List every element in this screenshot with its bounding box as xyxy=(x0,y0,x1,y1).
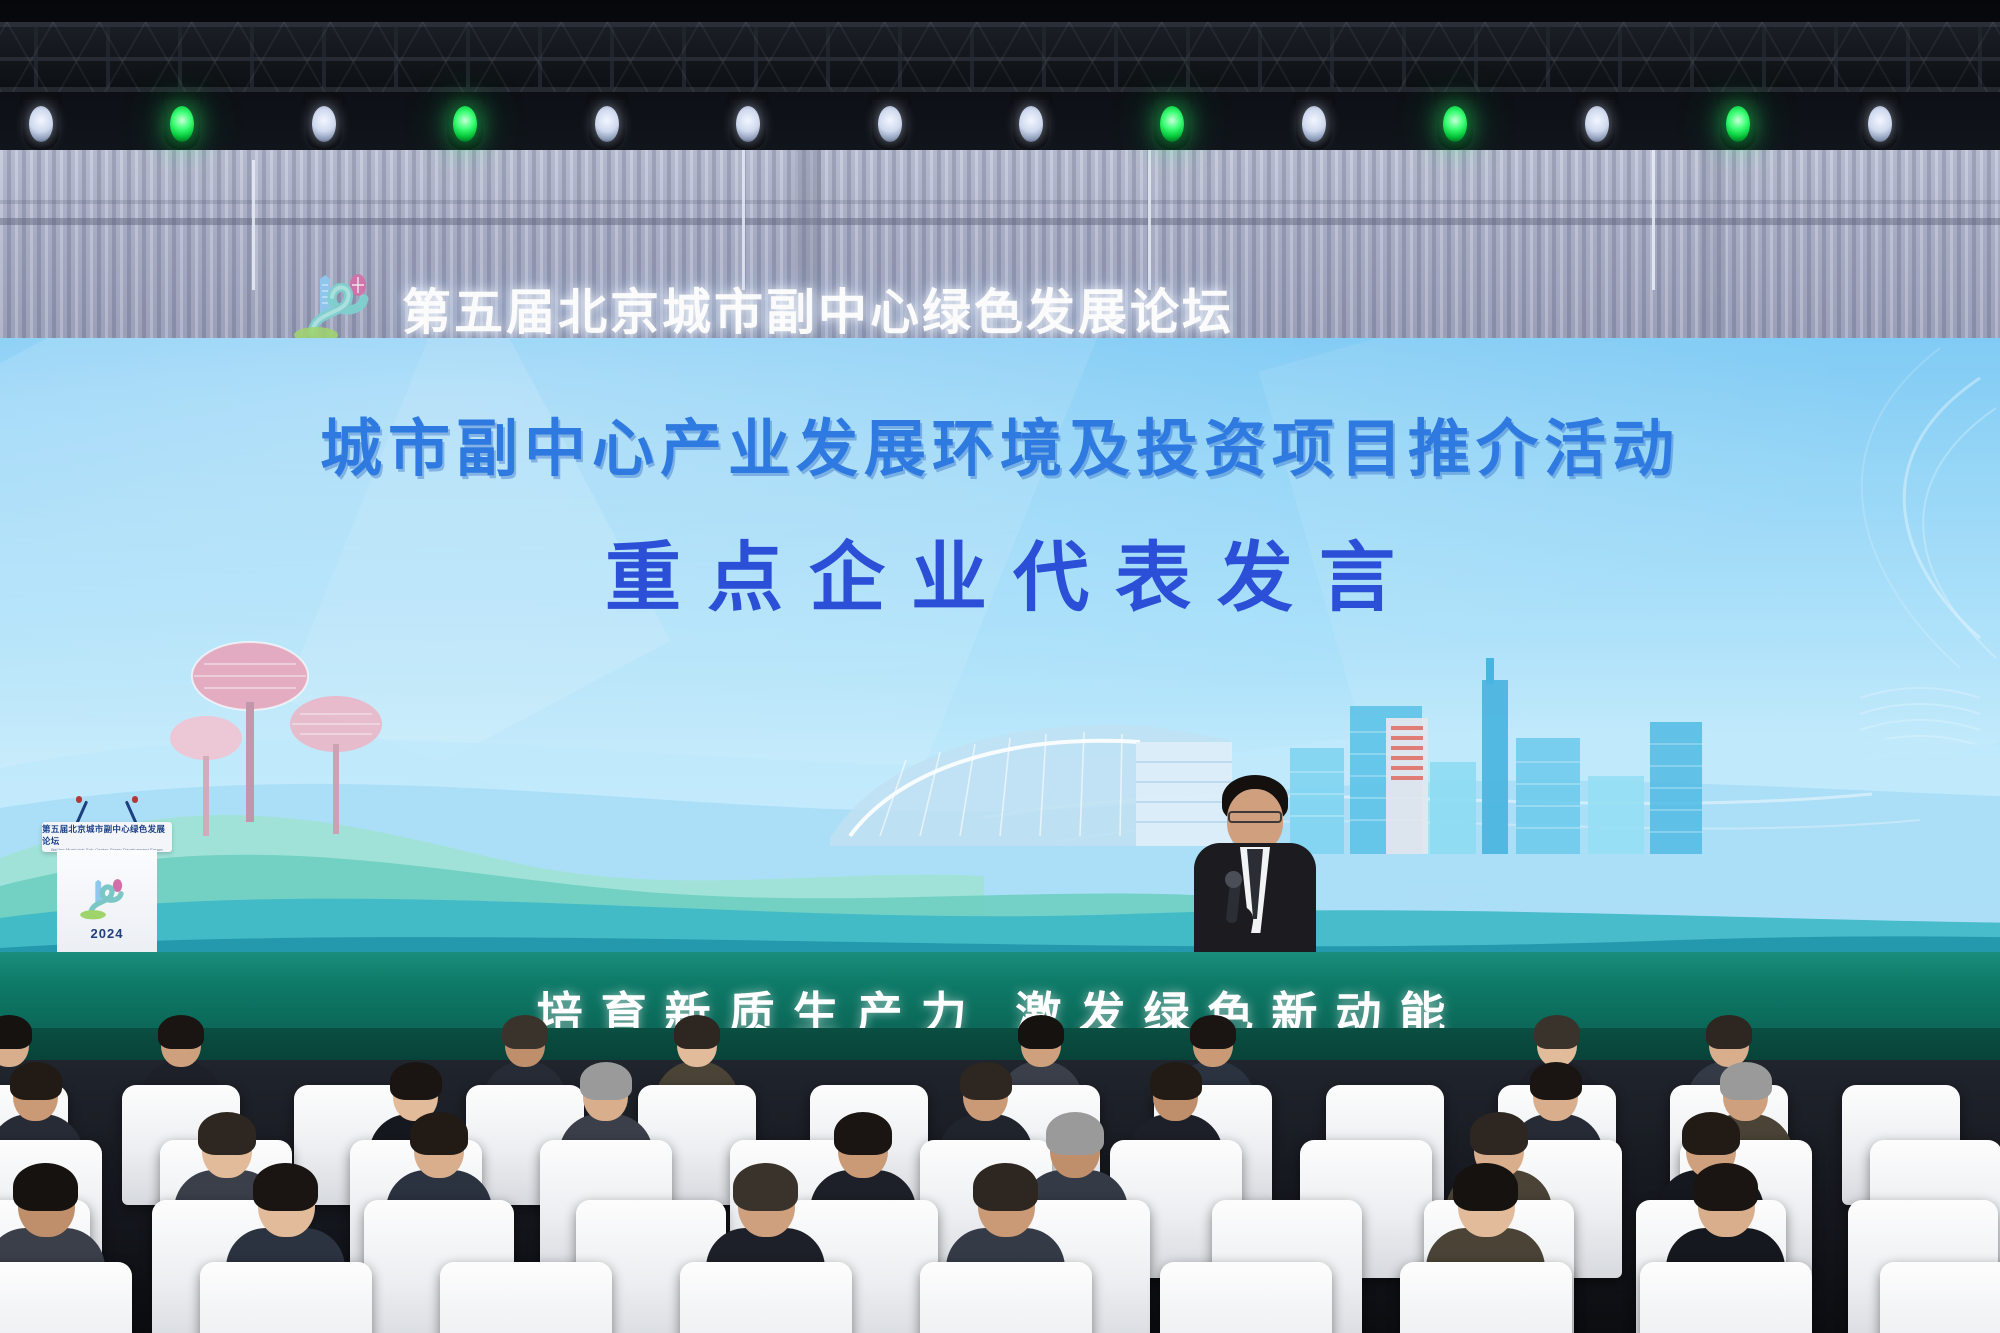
audience-hair xyxy=(253,1163,318,1211)
hanging-rod xyxy=(1148,150,1151,290)
eyeglasses xyxy=(1228,811,1282,823)
stage-light-white xyxy=(1004,92,1058,154)
audience-hair xyxy=(1534,1015,1580,1049)
truss-bracing xyxy=(0,22,2000,92)
forum-logo-podium-icon xyxy=(79,876,135,922)
podium-year: 2024 xyxy=(91,926,124,941)
stage-light-green xyxy=(1145,92,1199,154)
audience-hair xyxy=(1470,1112,1528,1155)
audience-hair xyxy=(502,1015,548,1049)
microphone-head xyxy=(76,796,82,803)
stage-light-green xyxy=(1428,92,1482,154)
audience-hair xyxy=(834,1112,892,1155)
led-screen: 城市副中心产业发展环境及投资项目推介活动 重点企业代表发言 xyxy=(0,338,2000,978)
audience-hair xyxy=(973,1163,1038,1211)
hanging-rod xyxy=(252,160,255,290)
audience-chair xyxy=(440,1262,612,1333)
audience-chair xyxy=(1400,1262,1572,1333)
audience-chair xyxy=(1880,1262,2000,1333)
audience-hair xyxy=(580,1062,632,1100)
audience-chair xyxy=(1160,1262,1332,1333)
conference-photo-stage: 第五届北京城市副中心绿色发展论坛 城市副中心产业发展环境及投资项目推介活动 重点… xyxy=(0,0,2000,1333)
forum-logo-icon xyxy=(292,271,388,345)
audience-hair xyxy=(1682,1112,1740,1155)
audience-hair xyxy=(1046,1112,1104,1155)
audience-hair xyxy=(1693,1163,1758,1211)
audience-hair xyxy=(198,1112,256,1155)
audience-hair xyxy=(0,1015,32,1049)
audience-hair xyxy=(960,1062,1012,1100)
microphone-head xyxy=(132,796,138,803)
hanging-rod xyxy=(742,150,745,290)
screen-tree-cluster xyxy=(170,632,430,882)
stage-light-green xyxy=(438,92,492,154)
stage-light-green xyxy=(1711,92,1765,154)
podium-sign-line1: 第五届北京城市副中心绿色发展论坛 xyxy=(42,823,172,847)
stage-light-white xyxy=(1287,92,1341,154)
stage-light-white xyxy=(297,92,351,154)
audience-chair xyxy=(680,1262,852,1333)
audience-chair xyxy=(1640,1262,1812,1333)
microphone-grille xyxy=(1225,871,1242,888)
audience-hair xyxy=(1018,1015,1064,1049)
hanging-rod xyxy=(1652,150,1655,290)
audience-hair xyxy=(1706,1015,1752,1049)
audience-hair xyxy=(13,1163,78,1211)
screen-title-line2: 重点企业代表发言 xyxy=(0,516,2000,626)
audience-hair xyxy=(1150,1062,1202,1100)
audience-hair xyxy=(1453,1163,1518,1211)
audience-hair xyxy=(10,1062,62,1100)
stage-light-white xyxy=(721,92,775,154)
audience-hair xyxy=(158,1015,204,1049)
overhead-banner-text: 第五届北京城市副中心绿色发展论坛 xyxy=(402,289,1234,338)
stage-light-white xyxy=(1570,92,1624,154)
audience-hair xyxy=(390,1062,442,1100)
overhead-banner: 第五届北京城市副中心绿色发展论坛 xyxy=(0,282,2000,344)
audience-chair xyxy=(200,1262,372,1333)
audience-chair xyxy=(0,1262,132,1333)
audience-hair xyxy=(1190,1015,1236,1049)
stage-light-white xyxy=(1853,92,1907,154)
audience-hair xyxy=(1530,1062,1582,1100)
audience-chair xyxy=(920,1262,1092,1333)
green-lower-banner: 培育新质生产力 激发绿色新动能 xyxy=(0,952,2000,1040)
audience-hair xyxy=(410,1112,468,1155)
stage-light-white xyxy=(14,92,68,154)
audience-hair xyxy=(1720,1062,1772,1100)
podium-sign: 第五届北京城市副中心绿色发展论坛 Beijing Municipal Sub-C… xyxy=(42,822,172,852)
stage-light-white xyxy=(580,92,634,154)
audience-hair xyxy=(674,1015,720,1049)
audience-hair xyxy=(733,1163,798,1211)
stage-light-green xyxy=(155,92,209,154)
screen-city-skyline xyxy=(1290,652,1710,872)
screen-title-line1: 城市副中心产业发展环境及投资项目推介活动 xyxy=(0,398,2000,488)
stage-light-white xyxy=(863,92,917,154)
